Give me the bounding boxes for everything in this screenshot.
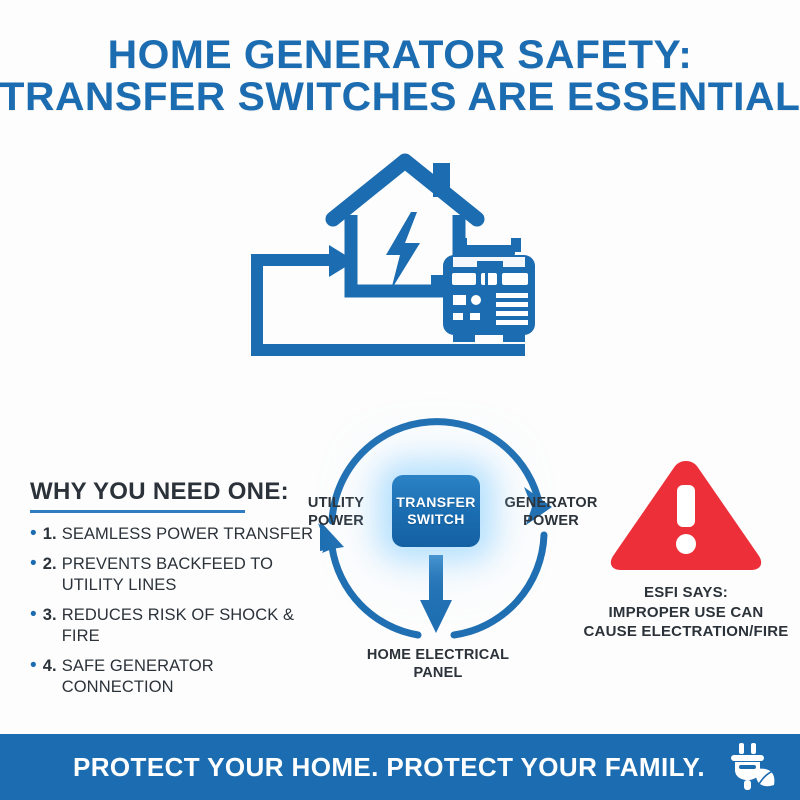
bottom-banner: PROTECT YOUR HOME. PROTECT YOUR FAMILY.	[0, 734, 800, 800]
arc-bottom-right-icon	[454, 535, 544, 635]
power-cycle-diagram: TRANSFER SWITCH UTILITY POWER GENERATOR …	[296, 395, 576, 695]
page-title: HOME GENERATOR SAFETY: TRANSFER SWITCHES…	[0, 34, 800, 118]
list-item-number: 3.	[43, 605, 57, 626]
warning-line-1: ESFI SAYS:	[580, 583, 792, 603]
transfer-switch-label-1: TRANSFER	[396, 494, 475, 511]
why-list: • 1. SEAMLESS POWER TRANSFER • 2. PREVEN…	[30, 524, 330, 698]
warning-text: ESFI SAYS: IMPROPER USE CAN CAUSE ELECTR…	[580, 583, 792, 642]
list-item: • 2. PREVENTS BACKFEED TO UTILITY LINES	[30, 554, 330, 596]
why-heading-underline	[30, 510, 245, 513]
hero-svg	[245, 145, 565, 375]
list-item-number: 1.	[43, 524, 57, 545]
warning-section: ESFI SAYS: IMPROPER USE CAN CAUSE ELECTR…	[580, 455, 792, 642]
transfer-switch-label-2: SWITCH	[407, 511, 465, 528]
title-line-1: HOME GENERATOR SAFETY:	[0, 34, 800, 76]
warning-triangle-exclamation-icon	[606, 455, 766, 573]
arrow-down-to-panel-icon	[420, 555, 452, 633]
bullet-icon: •	[30, 524, 37, 543]
esfi-plug-leaf-logo	[718, 741, 782, 793]
list-item-number: 4.	[43, 656, 57, 677]
infographic-canvas: HOME GENERATOR SAFETY: TRANSFER SWITCHES…	[0, 0, 800, 800]
warning-line-3: CAUSE ELECTRATION/FIRE	[580, 622, 792, 642]
list-item: • 1. SEAMLESS POWER TRANSFER	[30, 524, 330, 545]
list-item: • 4. SAFE GENERATOR CONNECTION	[30, 656, 330, 698]
hero-illustration	[245, 145, 565, 375]
bullet-icon: •	[30, 554, 37, 573]
list-item-label: PREVENTS BACKFEED TO UTILITY LINES	[62, 554, 330, 596]
label-utility-power: UTILITY POWER	[288, 495, 384, 530]
transfer-switch-node[interactable]: TRANSFER SWITCH	[392, 475, 480, 547]
bullet-icon: •	[30, 656, 37, 675]
list-item-number: 2.	[43, 554, 57, 575]
list-item-label: SAFE GENERATOR CONNECTION	[62, 656, 330, 698]
lightning-bolt-icon	[386, 212, 420, 290]
warning-line-2: IMPROPER USE CAN	[580, 603, 792, 623]
label-generator-power: GENERATOR POWER	[496, 495, 606, 530]
list-item: • 3. REDUCES RISK OF SHOCK & FIRE	[30, 605, 330, 647]
why-heading: WHY YOU NEED ONE:	[30, 478, 289, 509]
why-you-need-one-section: WHY YOU NEED ONE: • 1. SEAMLESS POWER TR…	[30, 478, 330, 707]
banner-tagline: PROTECT YOUR HOME. PROTECT YOUR FAMILY.	[0, 752, 718, 783]
portable-generator-icon	[431, 238, 535, 342]
list-item-label: REDUCES RISK OF SHOCK & FIRE	[62, 605, 330, 647]
title-line-2: TRANSFER SWITCHES ARE ESSENTIAL	[0, 76, 800, 118]
list-item-label: SEAMLESS POWER TRANSFER	[62, 524, 313, 545]
bullet-icon: •	[30, 605, 37, 624]
label-home-electrical-panel: HOME ELECTRICAL PANEL	[358, 647, 518, 682]
